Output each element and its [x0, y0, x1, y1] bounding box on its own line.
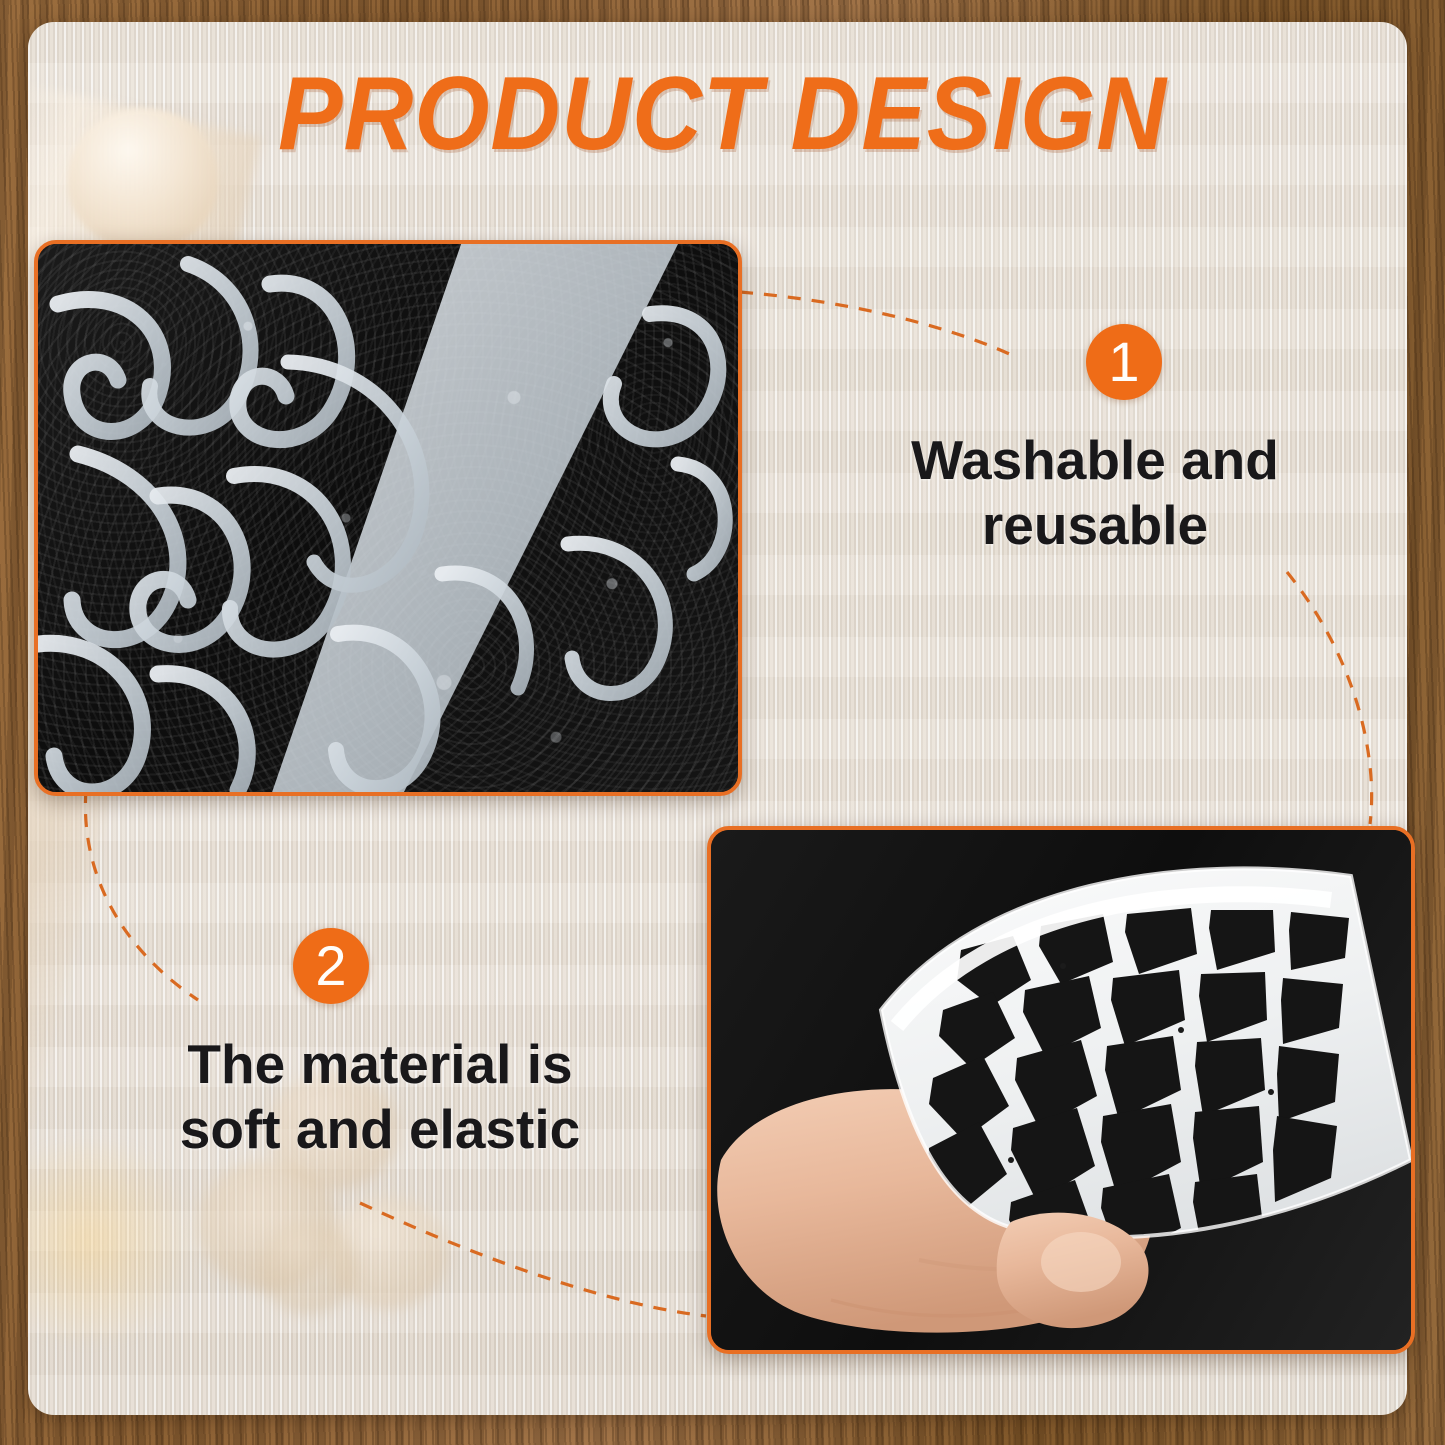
number-one-badge-icon: 1: [1086, 324, 1162, 400]
pinecone-decoration: [260, 1222, 356, 1314]
page-title: PRODUCT DESIGN: [51, 62, 1395, 166]
callout-1-caption: Washable and reusable: [845, 428, 1345, 558]
hand-holding-mesh-mat-photo: [707, 826, 1415, 1354]
hand-and-mesh-mat-icon: [711, 830, 1411, 1350]
water-droplets-overlay: [38, 244, 738, 792]
swirl-pattern-mat-photo: [34, 240, 742, 796]
callout-2-caption: The material is soft and elastic: [90, 1032, 670, 1162]
product-design-infographic: PRODUCT DESIGN: [0, 0, 1445, 1445]
glow-decoration: [28, 1142, 208, 1342]
number-two-badge-icon: 2: [293, 928, 369, 1004]
